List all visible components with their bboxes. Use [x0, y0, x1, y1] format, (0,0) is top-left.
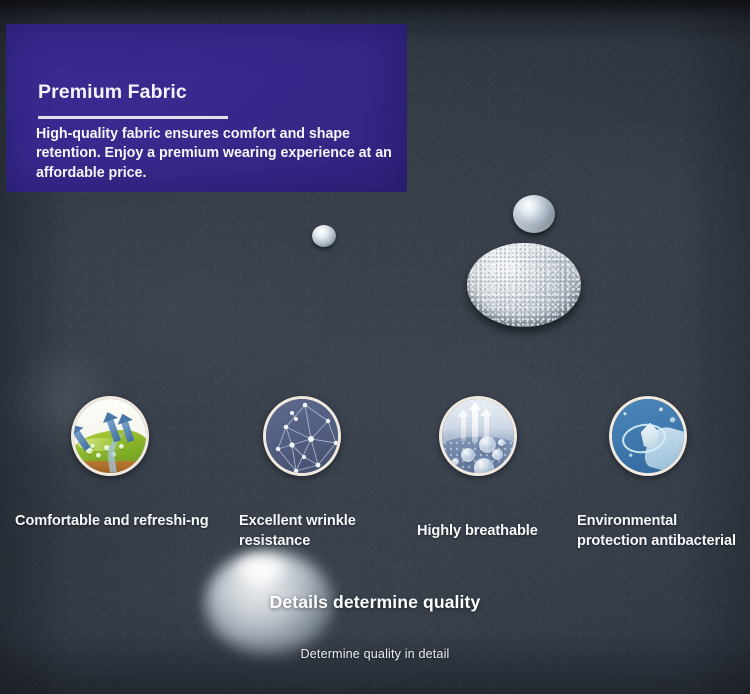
network-constellation-icon [266, 399, 338, 473]
footer-subline: Determine quality in detail [0, 647, 750, 661]
feature-badge [609, 396, 687, 476]
feature-caption-comfortable: Comfortable and refreshi-ng [15, 511, 233, 531]
feature-badge [263, 396, 341, 476]
product-detail-banner: Premium Fabric High-quality fabric ensur… [0, 0, 750, 694]
feature-caption-breathable: Highly breathable [417, 521, 577, 541]
panel-title: Premium Fabric [38, 81, 187, 104]
footer-headline: Details determine quality [0, 592, 750, 613]
panel-title-rule [38, 116, 228, 119]
premium-fabric-panel: Premium Fabric High-quality fabric ensur… [6, 24, 407, 192]
feature-caption-antibacterial: Environmental protection antibacterial [577, 511, 747, 551]
fabric-breathable-layers-icon [74, 399, 146, 473]
feature-badge [439, 396, 517, 476]
feature-caption-wrinkle: Excellent wrinkle resistance [239, 511, 407, 551]
feature-wrinkle-resistance [263, 396, 341, 476]
feature-antibacterial [609, 396, 687, 476]
feature-comfortable-refreshing [71, 396, 149, 476]
feature-highly-breathable [439, 396, 517, 476]
air-flow-droplets-icon [442, 399, 514, 473]
feature-badge [71, 396, 149, 476]
antibacterial-wipe-icon [612, 399, 684, 473]
panel-description: High-quality fabric ensures comfort and … [36, 125, 408, 183]
